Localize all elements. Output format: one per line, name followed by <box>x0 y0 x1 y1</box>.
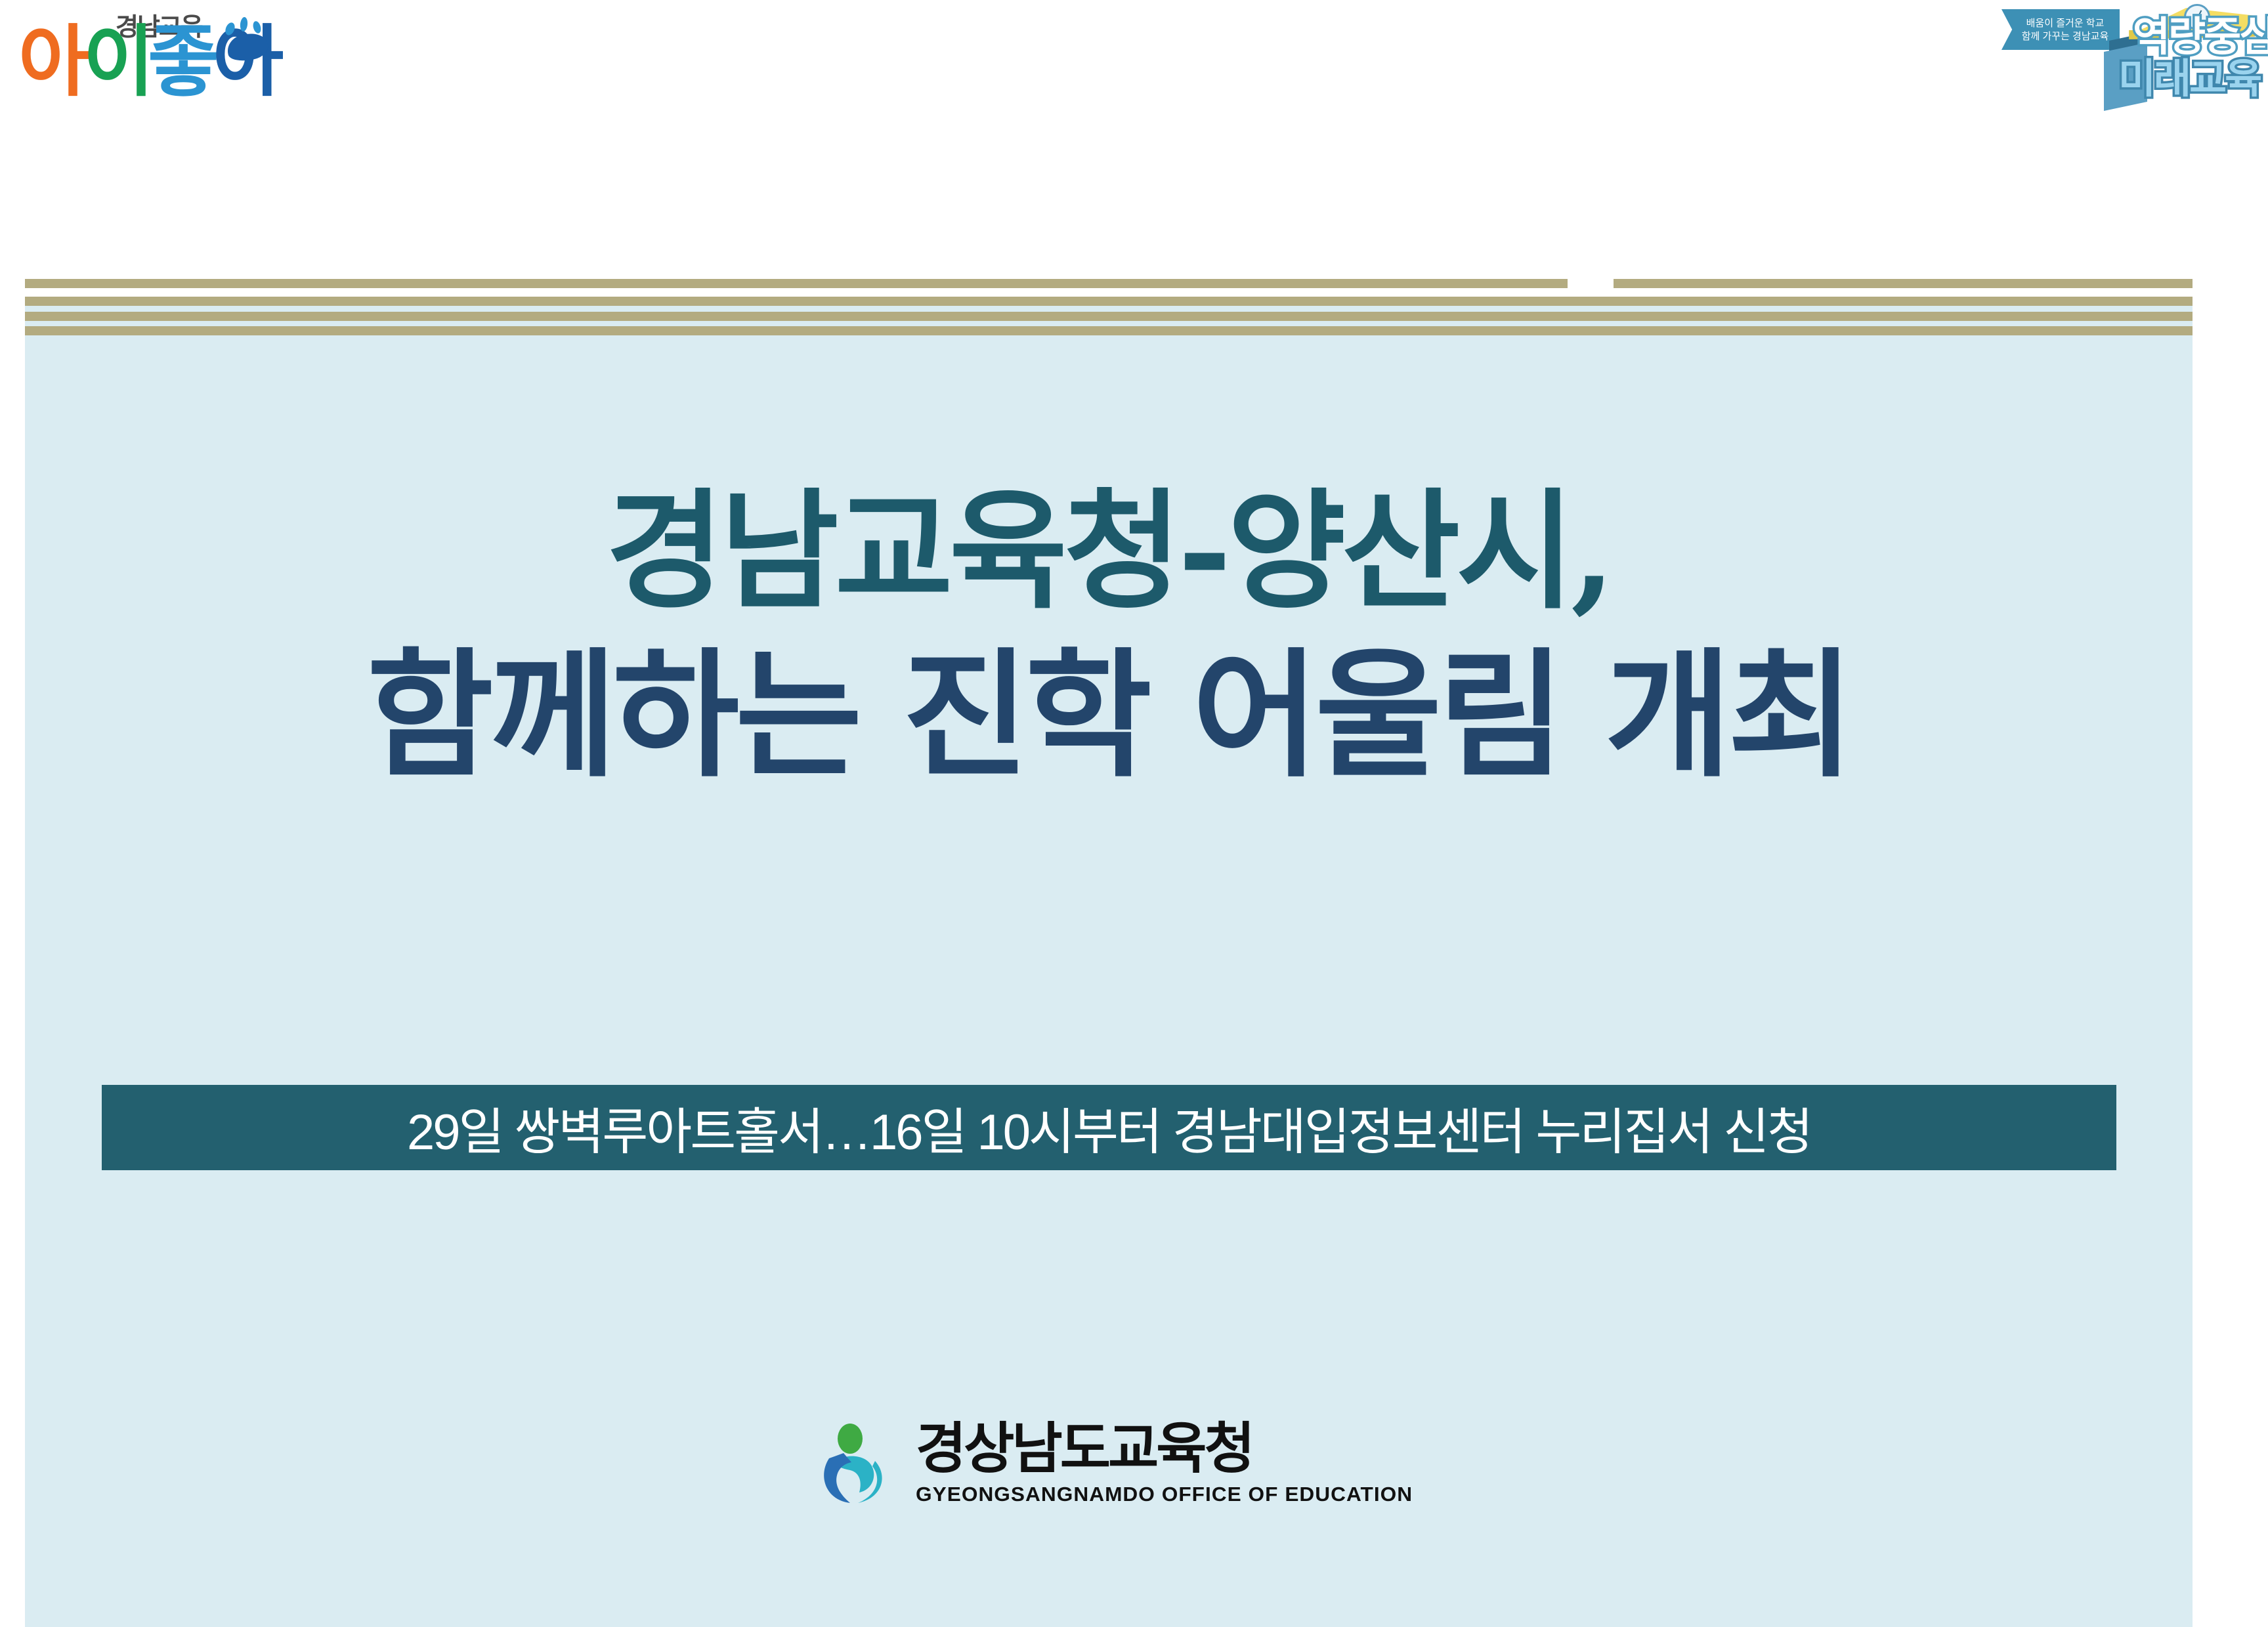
splash-blob-shape <box>225 30 270 64</box>
aijoa-brand-logo: 경남교육 아이좋아 <box>18 5 301 123</box>
stripe-2 <box>25 297 2193 306</box>
splash-dot-3 <box>252 20 263 34</box>
office-name-korean: 경상남도교육청 <box>916 1421 1252 1476</box>
splash-dot-1 <box>224 21 237 36</box>
stripe-1 <box>25 279 2193 288</box>
headline-line-1: 경남교육청-양산시, <box>25 476 2193 627</box>
wordmark-char-3: 좋 <box>148 19 213 106</box>
stripe-gap-1 <box>25 288 2193 297</box>
subtitle-banner: 29일 쌍벽루아트홀서…16일 10시부터 경남대입정보센터 누리집서 신청 <box>102 1085 2116 1170</box>
wordmark-char-1: 아 <box>18 19 83 106</box>
office-emblem-icon <box>815 1422 899 1506</box>
office-of-education-logo: 경상남도교육청 GYEONGSANGNAMDO OFFICE OF EDUCAT… <box>25 1421 2193 1506</box>
office-name-block: 경상남도교육청 GYEONGSANGNAMDO OFFICE OF EDUCAT… <box>916 1421 1403 1506</box>
subtitle-text: 29일 쌍벽루아트홀서…16일 10시부터 경남대입정보센터 누리집서 신청 <box>407 1091 1811 1164</box>
office-name-english: GYEONGSANGNAMDO OFFICE OF EDUCATION <box>916 1483 1413 1506</box>
header-logo-bar: 경남교육 아이좋아 배움이 즐거운 학교 함께 가꾸는 경남교육 역량중심 미래… <box>0 0 2268 276</box>
flag-slogan-line-2: 함께 가꾸는 경남교육 <box>2001 30 2120 43</box>
stripe-notch <box>1568 279 1614 288</box>
campaign-logo-line-2: 미래교육 <box>2118 59 2260 100</box>
splash-dot-2 <box>240 16 248 32</box>
announcement-card: 경남교육청-양산시, 함께하는 진학 어울림 개최 29일 쌍벽루아트홀서…16… <box>25 279 2193 1627</box>
decorative-stripe-border <box>25 279 2193 330</box>
slogan-flag-banner: 배움이 즐거운 학교 함께 가꾸는 경남교육 <box>2001 9 2120 50</box>
campaign-logo-line-1: 역량중심 <box>2133 17 2268 58</box>
splash-droplet-icon <box>215 17 274 63</box>
future-education-campaign-logo: 배움이 즐거운 학교 함께 가꾸는 경남교육 역량중심 미래교육 <box>1987 3 2263 134</box>
headline-line-2: 함께하는 진학 어울림 개최 <box>25 634 2193 797</box>
stripe-4 <box>25 326 2193 335</box>
wordmark-char-2: 이 <box>83 19 148 106</box>
headline-block: 경남교육청-양산시, 함께하는 진학 어울림 개최 <box>25 476 2193 797</box>
flag-slogan-line-1: 배움이 즐거운 학교 <box>2001 9 2120 30</box>
stripe-3 <box>25 312 2193 321</box>
